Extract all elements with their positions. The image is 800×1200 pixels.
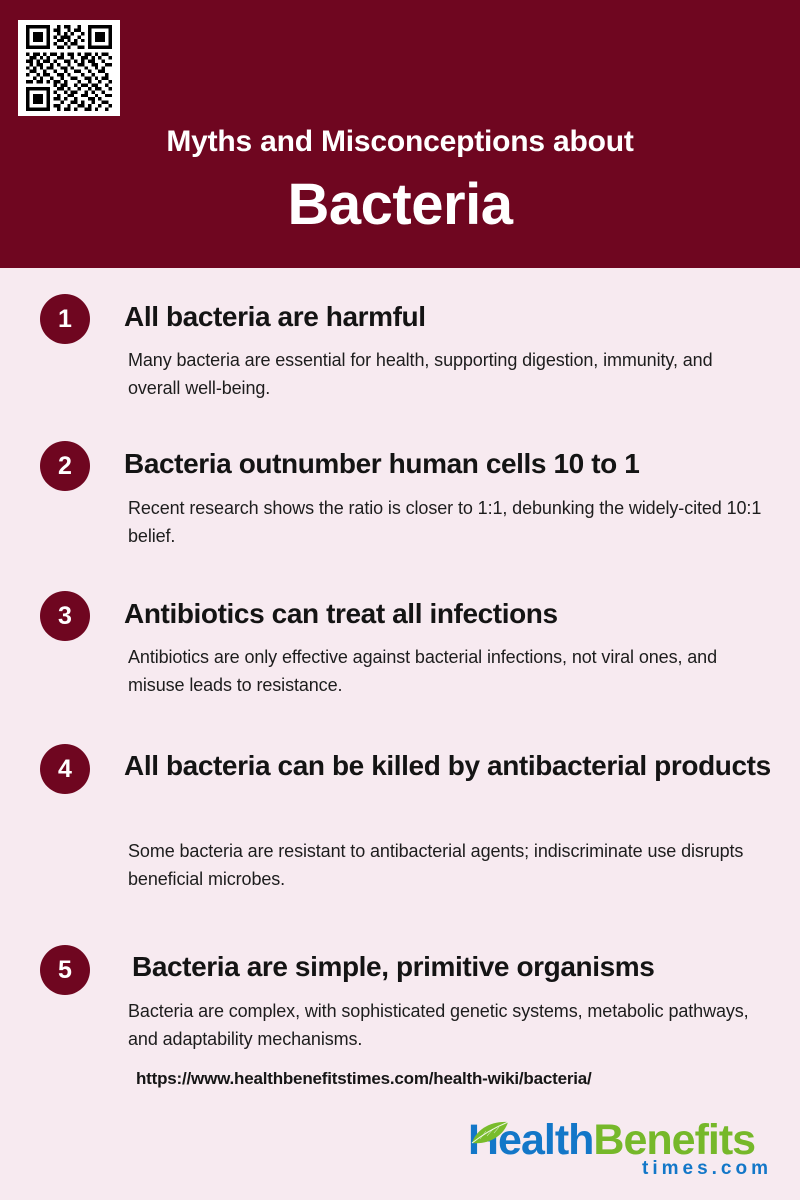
item-number-badge: 1 (40, 294, 90, 344)
item-heading: All bacteria are harmful (124, 295, 794, 339)
qr-code-icon[interactable] (18, 20, 120, 116)
source-url-link[interactable]: https://www.healthbenefitstimes.com/heal… (136, 1069, 592, 1089)
logo-wordmark: HealthBenefits (468, 1118, 755, 1162)
header-subtitle: Myths and Misconceptions about (0, 124, 800, 160)
item-description: Bacteria are complex, with sophisticated… (128, 997, 768, 1053)
item-number-badge: 5 (40, 945, 90, 995)
item-heading: Bacteria outnumber human cells 10 to 1 (124, 442, 794, 486)
item-heading: All bacteria can be killed by antibacter… (124, 744, 794, 788)
item-description: Many bacteria are essential for health, … (128, 346, 768, 402)
item-number-badge: 2 (40, 441, 90, 491)
item-number-badge: 3 (40, 591, 90, 641)
healthbenefitstimes-logo[interactable]: HealthBenefits times.com (468, 1118, 778, 1184)
item-number-badge: 4 (40, 744, 90, 794)
item-heading: Bacteria are simple, primitive organisms (132, 945, 800, 989)
item-heading: Antibiotics can treat all infections (124, 592, 794, 636)
item-description: Some bacteria are resistant to antibacte… (128, 837, 768, 893)
infographic-page: Myths and Misconceptions about Bacteria … (0, 0, 800, 1200)
item-description: Antibiotics are only effective against b… (128, 643, 768, 699)
item-description: Recent research shows the ratio is close… (128, 494, 768, 550)
logo-health-text: Health (468, 1116, 593, 1164)
header-banner: Myths and Misconceptions about Bacteria (0, 0, 800, 268)
page-title: Bacteria (0, 172, 800, 238)
logo-domain-text: times.com (642, 1158, 772, 1180)
logo-benefits-text: Benefits (593, 1116, 755, 1164)
